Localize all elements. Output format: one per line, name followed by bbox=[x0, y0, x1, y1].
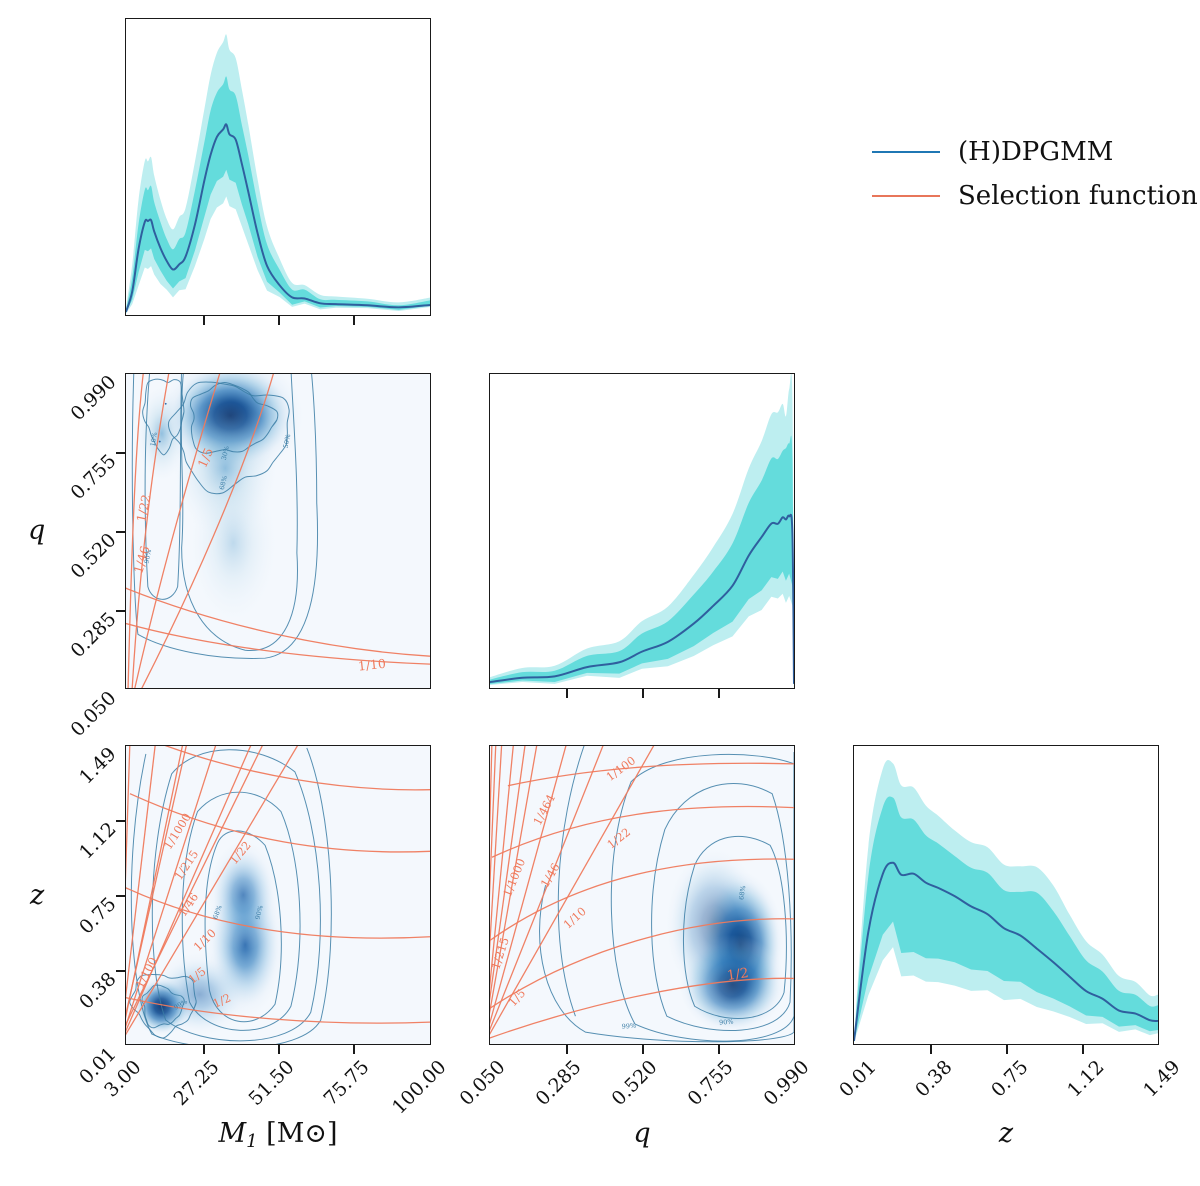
ytick-q-3: 0.285 bbox=[31, 608, 121, 698]
axis-title-m1-main: M bbox=[218, 1118, 246, 1149]
tick bbox=[718, 689, 720, 698]
tick bbox=[116, 452, 125, 454]
tick bbox=[930, 1045, 932, 1054]
q-z-joint-svg: 1/10001/4641/2151/1001/461/221/101/51/26… bbox=[490, 746, 794, 1044]
xtick-q-4: 0.990 bbox=[727, 1056, 813, 1142]
tick bbox=[1006, 1045, 1008, 1054]
panel-q-z-joint: 1/10001/4641/2151/1001/461/221/101/51/26… bbox=[489, 745, 795, 1045]
tick bbox=[278, 316, 280, 325]
tick bbox=[353, 316, 355, 325]
legend-entry-selection: Selection function bbox=[872, 174, 1198, 218]
svg-text:1/2: 1/2 bbox=[726, 966, 749, 984]
tick bbox=[642, 689, 644, 698]
legend-label-selection: Selection function bbox=[958, 181, 1198, 211]
panel-q-marginal bbox=[489, 373, 795, 689]
svg-text:1/10: 1/10 bbox=[357, 656, 386, 674]
panel-m1-marginal bbox=[125, 18, 431, 316]
axis-name-z: z bbox=[30, 880, 44, 911]
panel-z-marginal bbox=[853, 745, 1159, 1045]
tick bbox=[203, 316, 205, 325]
m1-q-joint-svg: 1/221/461/51/1010%30%68%50%90% bbox=[126, 374, 430, 688]
axis-title-q: q bbox=[592, 1118, 692, 1149]
svg-text:99%: 99% bbox=[622, 1022, 637, 1031]
legend-label-hdpgmm: (H)DPGMM bbox=[958, 137, 1113, 167]
axis-title-m1: M1 [M⊙] bbox=[178, 1118, 378, 1152]
svg-text:90%: 90% bbox=[719, 1018, 734, 1027]
tick bbox=[1082, 1045, 1084, 1054]
xtick-z-1: 0.38 bbox=[877, 1056, 956, 1135]
tick bbox=[116, 610, 125, 612]
tick bbox=[353, 1045, 355, 1054]
tick bbox=[642, 1045, 644, 1054]
ytick-q-0: 0.990 bbox=[31, 371, 121, 461]
tick bbox=[116, 970, 125, 972]
tick bbox=[116, 820, 125, 822]
tick bbox=[566, 1045, 568, 1054]
axis-title-m1-unit: [M⊙] bbox=[266, 1118, 337, 1149]
panel-m1-z-joint: 1/10001/2151/1001/461/221/101/51/268%90%… bbox=[125, 745, 431, 1045]
panel-m1-q-joint: 1/221/461/51/1010%30%68%50%90% bbox=[125, 373, 431, 689]
m1-marginal-svg bbox=[126, 19, 430, 315]
tick bbox=[566, 689, 568, 698]
legend-line-hdpgmm bbox=[872, 151, 940, 153]
axis-name-q: q bbox=[28, 515, 45, 546]
tick bbox=[116, 895, 125, 897]
tick bbox=[278, 1045, 280, 1054]
legend-entry-hdpgmm: (H)DPGMM bbox=[872, 130, 1198, 174]
z-marginal-svg bbox=[854, 746, 1158, 1044]
legend-line-selection bbox=[872, 195, 940, 197]
legend: (H)DPGMM Selection function bbox=[872, 130, 1198, 218]
axis-title-z: z bbox=[956, 1118, 1056, 1149]
xtick-q-1: 0.285 bbox=[499, 1056, 585, 1142]
axis-title-m1-sub: 1 bbox=[246, 1131, 257, 1152]
tick bbox=[718, 1045, 720, 1054]
tick bbox=[116, 531, 125, 533]
tick bbox=[203, 1045, 205, 1054]
xtick-z-4: 1.49 bbox=[1105, 1056, 1184, 1135]
corner-plot-figure: 1/221/461/51/1010%30%68%50%90% bbox=[0, 0, 1200, 1186]
q-marginal-svg bbox=[490, 374, 794, 688]
xtick-z-0: 0.01 bbox=[801, 1056, 880, 1135]
m1-z-joint-svg: 1/10001/2151/1001/461/221/101/51/268%90%… bbox=[126, 746, 430, 1044]
